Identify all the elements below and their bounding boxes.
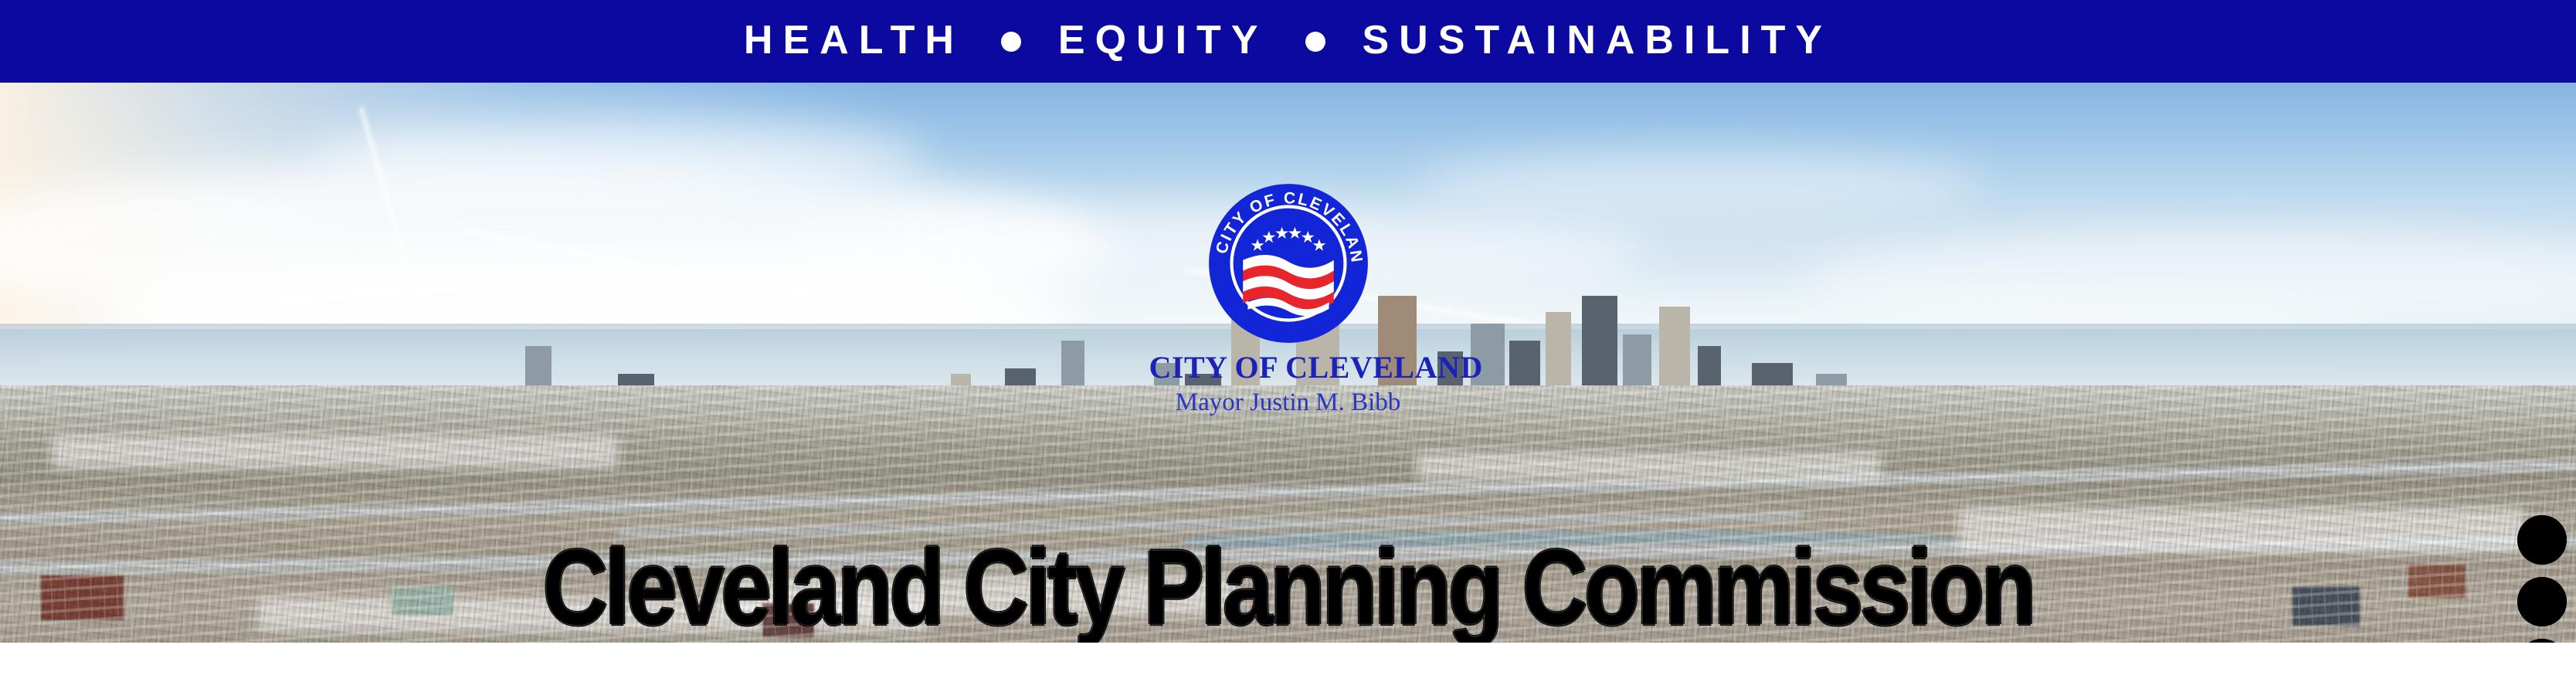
youtube-icon xyxy=(2517,515,2567,565)
city-branding: CITY OF CLEVELAND OHIO xyxy=(1149,182,1427,416)
facebook-icon xyxy=(2517,639,2567,643)
city-name-label: CITY OF CLEVELAND xyxy=(1149,352,1427,383)
city-of-cleveland-seal-icon: CITY OF CLEVELAND OHIO xyxy=(1207,182,1369,344)
page-title: Cleveland City Planning Commission xyxy=(13,534,2564,641)
tagline-word-sustainability: SUSTAINABILITY xyxy=(1363,20,1833,63)
tagline-text: HEALTH EQUITY SUSTAINABILITY xyxy=(744,20,1832,63)
tagline-word-health: HEALTH xyxy=(744,20,964,63)
instagram-icon xyxy=(2517,577,2567,626)
youtube-button[interactable] xyxy=(2517,515,2567,565)
dot-separator-icon-1 xyxy=(1001,32,1021,52)
dot-separator-icon-2 xyxy=(1305,32,1325,52)
mayor-name-label: Mayor Justin M. Bibb xyxy=(1149,390,1427,416)
instagram-button[interactable] xyxy=(2517,577,2567,626)
facebook-button[interactable] xyxy=(2517,639,2567,643)
hero-photo: CITY OF CLEVELAND OHIO xyxy=(0,83,2576,643)
footer-whitespace xyxy=(0,643,2576,682)
page-root: HEALTH EQUITY SUSTAINABILITY xyxy=(0,0,2576,682)
tagline-banner: HEALTH EQUITY SUSTAINABILITY xyxy=(0,0,2576,83)
tagline-word-equity: EQUITY xyxy=(1058,20,1268,63)
social-links xyxy=(2517,515,2567,643)
